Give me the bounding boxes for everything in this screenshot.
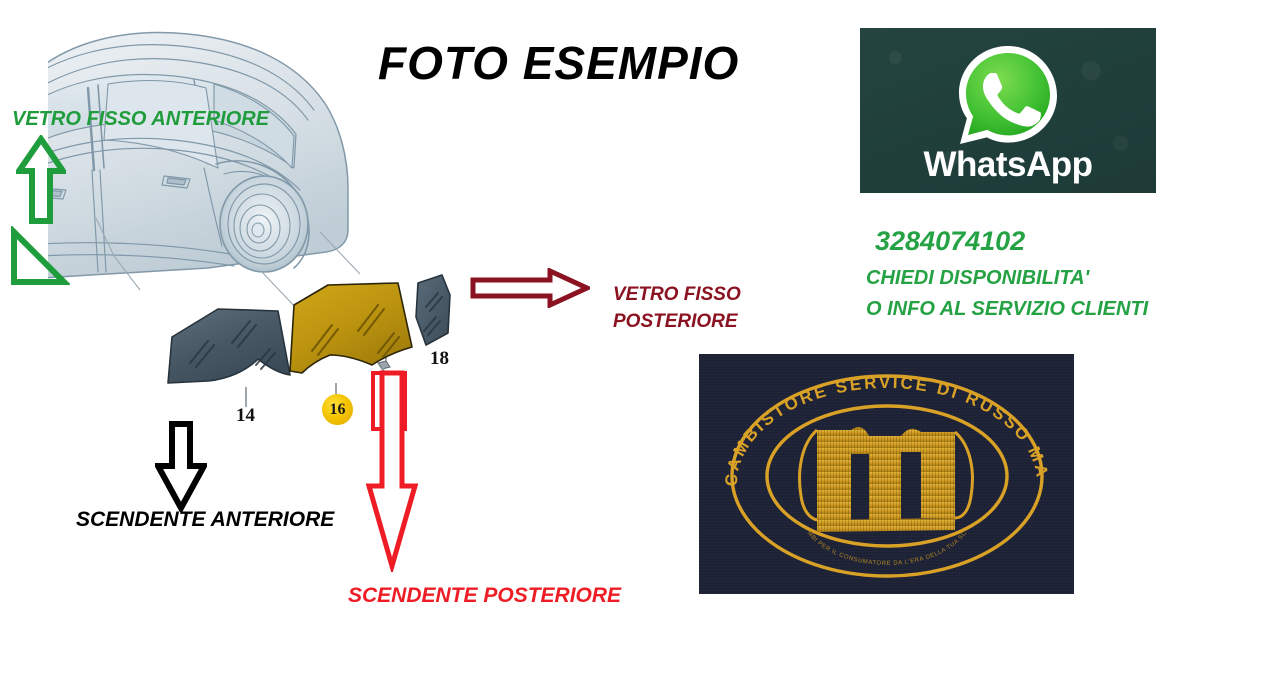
exploded-glass-parts: [150, 255, 480, 435]
contact-line-1: CHIEDI DISPONIBILITA': [866, 267, 1089, 290]
label-vetro-fisso-anteriore: VETRO FISSO ANTERIORE: [12, 108, 269, 131]
arrow-up-green-icon: [16, 135, 66, 230]
poster-canvas: 14 16 17 18 FOTO ESEMPIO VETRO FISSO ANT…: [0, 0, 1264, 678]
whatsapp-banner: WhatsApp: [860, 28, 1156, 193]
phone-number[interactable]: 3284074102: [875, 226, 1025, 257]
label-vetro-fisso-posteriore: VETRO FISSO POSTERIORE: [613, 281, 741, 335]
logo-monogram: [800, 427, 973, 532]
contact-line-2: O INFO AL SERVIZIO CLIENTI: [866, 298, 1148, 321]
arrow-down-black-icon: [155, 420, 207, 517]
page-title: FOTO ESEMPIO: [378, 36, 739, 90]
arrow-right-darkred-icon: [470, 268, 590, 313]
part-number-16-badge: 16: [322, 394, 353, 425]
company-logo: MRICAMBISTORE SERVICE DI RUSSO MARCO RIC…: [699, 354, 1074, 594]
arrow-down-red-icon: [365, 370, 419, 577]
label-vfp-line2: POSTERIORE: [613, 308, 741, 335]
part-number-18: 18: [430, 348, 449, 370]
label-scendente-anteriore: SCENDENTE ANTERIORE: [76, 508, 334, 532]
whatsapp-wordmark: WhatsApp: [860, 145, 1156, 185]
triangle-green-icon: [8, 226, 70, 293]
part-number-14: 14: [236, 405, 255, 427]
label-vfp-line1: VETRO FISSO: [613, 281, 741, 308]
label-scendente-posteriore: SCENDENTE POSTERIORE: [348, 584, 621, 608]
whatsapp-icon: [952, 40, 1064, 157]
